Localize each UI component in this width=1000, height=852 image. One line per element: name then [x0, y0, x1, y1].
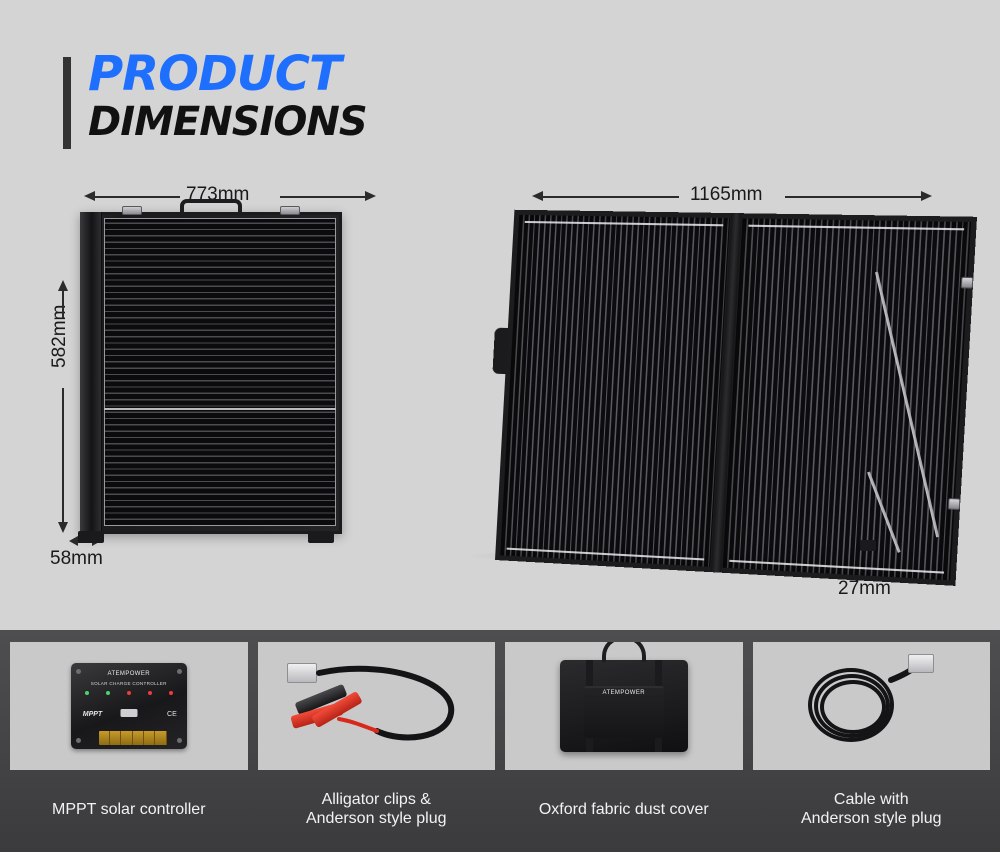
dim-label-unfolded-width: 1165mm: [690, 184, 763, 206]
solar-charge-controller-icon: ATEMPOWER SOLAR CHARGE CONTROLLER MPPT C…: [71, 663, 187, 749]
panel-foot-left: [78, 531, 104, 543]
dim-line-folded-height-bottom: [62, 388, 64, 523]
latch-left-icon: [122, 206, 142, 215]
arrowhead-unfolded-width-left: [532, 191, 543, 201]
ce-mark-label: CE: [167, 711, 177, 718]
panel-half-left: [495, 210, 735, 573]
page-title: PRODUCT DIMENSIONS: [88, 48, 367, 144]
bag-handle-icon: [602, 642, 646, 662]
alligator-clips-icon: [281, 651, 471, 761]
accessory-card-alligator-clips: Alligator clips & Anderson style plug: [258, 642, 496, 852]
busbar-bottom-right: [729, 560, 944, 573]
title-accent-bar: [63, 57, 71, 149]
accessory-caption-alligator-clips: Alligator clips & Anderson style plug: [258, 770, 496, 852]
led-battery-3: [169, 691, 173, 695]
dim-line-unfolded-width-left: [543, 196, 679, 198]
accessories-strip: ATEMPOWER SOLAR CHARGE CONTROLLER MPPT C…: [0, 630, 1000, 852]
controller-mppt-label: MPPT: [83, 711, 102, 718]
latch-upper-icon: [961, 277, 974, 289]
busbar-top-left: [525, 221, 724, 226]
controller-brand-label: ATEMPOWER: [71, 671, 187, 677]
arrowhead-folded-height-bottom: [58, 522, 68, 533]
usb-output-port-icon: [120, 709, 137, 717]
arrowhead-unfolded-width-right: [921, 191, 932, 201]
panel-center-busbar: [104, 408, 336, 410]
led-battery-1: [127, 691, 131, 695]
arrowhead-folded-depth-left: [69, 536, 78, 546]
cable-coil-icon: [796, 654, 946, 758]
latch-right-icon: [280, 206, 300, 215]
accessory-card-dust-cover: ATEMPOWER Oxford fabric dust cover: [505, 642, 743, 852]
accessory-caption-mppt-controller: MPPT solar controller: [10, 770, 248, 852]
kickstand-foot: [860, 540, 876, 551]
bag-brand-label: ATEMPOWER: [560, 690, 688, 696]
title-primary: PRODUCT: [88, 48, 367, 100]
screw-bl: [76, 738, 81, 743]
accessory-photo-dust-cover: ATEMPOWER: [505, 642, 743, 770]
dim-line-folded-height-top: [62, 290, 64, 318]
arrowhead-folded-width-right: [365, 191, 376, 201]
accessory-caption-dust-cover: Oxford fabric dust cover: [505, 770, 743, 852]
busbar-bottom-left: [507, 548, 705, 560]
accessory-card-cable: Cable with Anderson style plug: [753, 642, 991, 852]
oxford-dust-cover-icon: ATEMPOWER: [560, 660, 688, 752]
dim-line-folded-width-right: [280, 196, 365, 198]
dim-line-folded-width-left: [95, 196, 180, 198]
led-battery-2: [148, 691, 152, 695]
accessory-photo-mppt-controller: ATEMPOWER SOLAR CHARGE CONTROLLER MPPT C…: [10, 642, 248, 770]
controller-subtitle-label: SOLAR CHARGE CONTROLLER: [71, 681, 187, 686]
panel-cell-surface: [104, 218, 336, 526]
latch-lower-icon: [948, 498, 961, 510]
arrowhead-folded-width-left: [84, 191, 95, 201]
terminal-block-icon: [99, 731, 167, 745]
panel-foot-right: [308, 531, 334, 543]
accessory-photo-alligator-clips: [258, 642, 496, 770]
anderson-plug-icon: [908, 654, 934, 673]
arrowhead-folded-height-top: [58, 280, 68, 291]
accessory-caption-cable: Cable with Anderson style plug: [753, 770, 991, 852]
panel-side-edge: [80, 212, 102, 534]
dim-line-unfolded-width-right: [785, 196, 921, 198]
dim-label-folded-height: 582mm: [49, 305, 71, 368]
panel-half-right: [717, 213, 977, 586]
side-carry-handle-icon: [492, 328, 508, 374]
unfolded-solar-panel-image: [495, 210, 935, 560]
header: PRODUCT DIMENSIONS: [0, 0, 1000, 160]
led-load: [106, 691, 110, 695]
controller-led-row: [85, 691, 173, 695]
led-solar: [85, 691, 89, 695]
title-secondary: DIMENSIONS: [88, 100, 367, 144]
busbar-top-right: [748, 225, 964, 230]
dim-label-folded-depth: 58mm: [50, 548, 103, 570]
accessory-photo-cable: [753, 642, 991, 770]
accessory-card-mppt-controller: ATEMPOWER SOLAR CHARGE CONTROLLER MPPT C…: [10, 642, 248, 852]
folded-solar-panel-image: [80, 212, 342, 534]
carry-handle-icon: [180, 199, 242, 214]
screw-br: [177, 738, 182, 743]
